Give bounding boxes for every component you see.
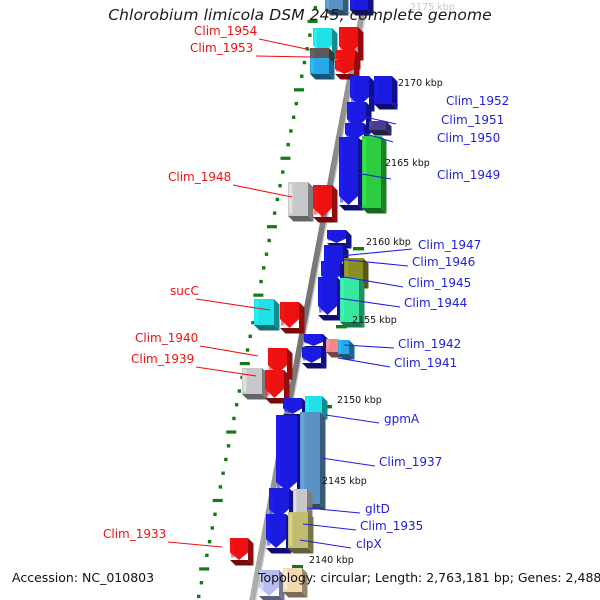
gene-highlight: [328, 232, 331, 241]
major-tick-mark: [294, 88, 304, 91]
major-tick-mark: [213, 499, 223, 502]
gene-side-face: [308, 512, 314, 554]
scale-tick-label: 2165 kbp: [385, 158, 430, 169]
gene-khaki-1935[interactable]: [288, 512, 314, 554]
minor-tick-mark: [281, 170, 284, 173]
scale-tick-label: 2150 kbp: [337, 395, 382, 406]
gene-label-clim-1948[interactable]: Clim_1948: [168, 170, 231, 184]
minor-tick-mark: [303, 61, 306, 64]
gene-red-1933[interactable]: [230, 538, 254, 566]
gene-label-clim-1949[interactable]: Clim_1949: [437, 168, 500, 182]
scale-tick-label: 2145 kbp: [322, 476, 367, 487]
gene-label-clim-1935[interactable]: Clim_1935: [360, 519, 423, 533]
gene-highlight: [284, 400, 287, 412]
gene-highlight: [348, 104, 351, 126]
gene-highlight: [351, 78, 354, 104]
gene-label-clim-1941[interactable]: Clim_1941: [394, 356, 457, 370]
gene-highlight: [289, 184, 292, 214]
page-title: Chlorobium limicola DSM 245, complete ge…: [0, 6, 600, 24]
minor-tick-mark: [276, 198, 279, 201]
gene-blue-1937[interactable]: [276, 415, 303, 497]
gene-gray-1948[interactable]: [288, 182, 314, 222]
gene-label-clim-1940[interactable]: Clim_1940: [135, 331, 198, 345]
gene-side-face: [332, 185, 338, 223]
minor-tick-mark: [238, 389, 241, 392]
gene-label-clim-1933[interactable]: Clim_1933: [103, 527, 166, 541]
gene-highlight: [336, 62, 339, 72]
minor-tick-mark: [273, 211, 276, 214]
label-leader-line: [259, 39, 311, 50]
label-leader-line: [338, 358, 390, 367]
gene-highlight: [305, 336, 308, 344]
label-leader-line: [326, 415, 379, 423]
minor-tick-mark: [232, 417, 235, 420]
minor-tick-mark: [219, 485, 222, 488]
label-leader-line: [321, 458, 375, 466]
scale-tick-label: 2160 kbp: [366, 237, 411, 248]
accession-text: Accession: NC_010803: [12, 570, 154, 585]
gene-highlight: [301, 414, 304, 502]
gene-highlight: [375, 78, 378, 102]
minor-tick-mark: [211, 526, 214, 529]
minor-tick-mark: [208, 540, 211, 543]
major-tick-mark: [280, 157, 290, 160]
minor-tick-mark: [227, 444, 230, 447]
minor-tick-mark: [249, 335, 252, 338]
major-tick-mark: [267, 225, 277, 228]
gene-highlight: [340, 29, 343, 53]
gene-label-clim-1950[interactable]: Clim_1950: [437, 131, 500, 145]
label-leader-line: [307, 508, 360, 513]
gene-label-clim-1944[interactable]: Clim_1944: [404, 296, 467, 310]
gene-label-gltd[interactable]: gltD: [365, 502, 390, 516]
gene-cyan-sucC[interactable]: [254, 299, 280, 331]
gene-highlight: [314, 187, 317, 215]
minor-tick-mark: [197, 595, 200, 598]
gene-label-clim-1951[interactable]: Clim_1951: [441, 113, 504, 127]
label-leader-line: [200, 346, 258, 356]
gene-side-face: [274, 299, 280, 331]
gene-highlight: [319, 279, 322, 313]
gene-highlight: [266, 372, 269, 396]
minor-tick-mark: [221, 472, 224, 475]
minor-tick-mark: [268, 239, 271, 242]
minor-tick-mark: [235, 403, 238, 406]
scale-tick-label: 2140 kbp: [309, 555, 354, 566]
scale-tick-mark: [292, 565, 303, 568]
gene-highlight: [243, 370, 246, 392]
minor-tick-mark: [205, 554, 208, 557]
minor-tick-mark: [262, 266, 265, 269]
label-leader-line: [233, 185, 292, 197]
gene-highlight: [303, 349, 306, 361]
minor-tick-mark: [286, 143, 289, 146]
gene-highlight: [327, 341, 329, 350]
minor-tick-mark: [246, 348, 249, 351]
scale-tick-label: 2155 kbp: [352, 315, 397, 326]
gene-label-clim-1954[interactable]: Clim_1954: [194, 24, 257, 38]
minor-tick-mark: [289, 129, 292, 132]
gene-highlight: [311, 60, 314, 72]
genome-map-viewer: Chlorobium limicola DSM 245, complete ge…: [0, 0, 600, 600]
minor-tick-mark: [278, 184, 281, 187]
gene-highlight: [363, 138, 366, 206]
gene-highlight: [289, 514, 292, 546]
gene-highlight: [231, 540, 234, 558]
gene-side-face: [299, 302, 305, 334]
gene-label-succ[interactable]: sucC: [170, 284, 199, 298]
gene-gray-1939[interactable]: [242, 368, 268, 400]
minor-tick-mark: [259, 280, 262, 283]
genome-summary-text: Topology: circular; Length: 2,763,181 bp…: [258, 570, 600, 585]
minor-tick-mark: [200, 581, 203, 584]
label-leader-line: [256, 56, 311, 57]
gene-label-clim-1952[interactable]: Clim_1952: [446, 94, 509, 108]
gene-side-face: [308, 182, 314, 222]
minor-tick-mark: [308, 33, 311, 36]
gene-label-clim-1939[interactable]: Clim_1939: [131, 352, 194, 366]
gene-highlight: [281, 304, 284, 326]
label-leader-line: [168, 542, 222, 547]
gene-blue-1942b[interactable]: [302, 347, 327, 369]
minor-tick-mark: [265, 252, 268, 255]
minor-tick-mark: [224, 458, 227, 461]
gene-label-clim-1937[interactable]: Clim_1937: [379, 455, 442, 469]
gene-label-clim-1942[interactable]: Clim_1942: [398, 337, 461, 351]
scale-tick-mark: [353, 247, 364, 250]
gene-side-face: [381, 136, 387, 214]
gene-highlight: [267, 516, 270, 546]
gene-label-clpx[interactable]: clpX: [356, 537, 382, 551]
genome-map-canvas: [0, 0, 600, 600]
gene-red-sucC[interactable]: [280, 302, 305, 334]
minor-tick-mark: [292, 116, 295, 119]
gene-purple-1950[interactable]: [369, 121, 392, 136]
gene-highlight: [370, 123, 373, 128]
gene-highlight: [269, 350, 272, 372]
gene-blue-clpX[interactable]: [266, 514, 292, 554]
major-tick-mark: [253, 294, 263, 297]
minor-tick-mark: [213, 513, 216, 516]
gene-label-clim-1946[interactable]: Clim_1946: [412, 255, 475, 269]
scale-tick-label: 2170 kbp: [398, 78, 443, 89]
gene-label-gpma[interactable]: gpmA: [384, 412, 419, 426]
gene-highlight: [270, 490, 273, 516]
gene-label-clim-1945[interactable]: Clim_1945: [408, 276, 471, 290]
gene-label-clim-1947[interactable]: Clim_1947: [418, 238, 481, 252]
gene-highlight: [277, 417, 281, 489]
gene-label-clim-1953[interactable]: Clim_1953: [190, 41, 253, 55]
label-leader-line: [340, 249, 412, 256]
major-tick-mark: [199, 567, 209, 570]
minor-tick-mark: [300, 75, 303, 78]
gene-highlight: [340, 139, 343, 203]
gene-lightblue[interactable]: [310, 58, 335, 80]
gene-highlight: [339, 342, 341, 352]
gene-highlight: [346, 125, 349, 138]
major-tick-mark: [226, 430, 236, 433]
gene-highlight: [255, 301, 258, 323]
minor-tick-mark: [295, 102, 298, 105]
gene-side-face: [320, 412, 326, 510]
gene-highlight: [306, 398, 309, 412]
major-tick-mark: [240, 362, 250, 365]
